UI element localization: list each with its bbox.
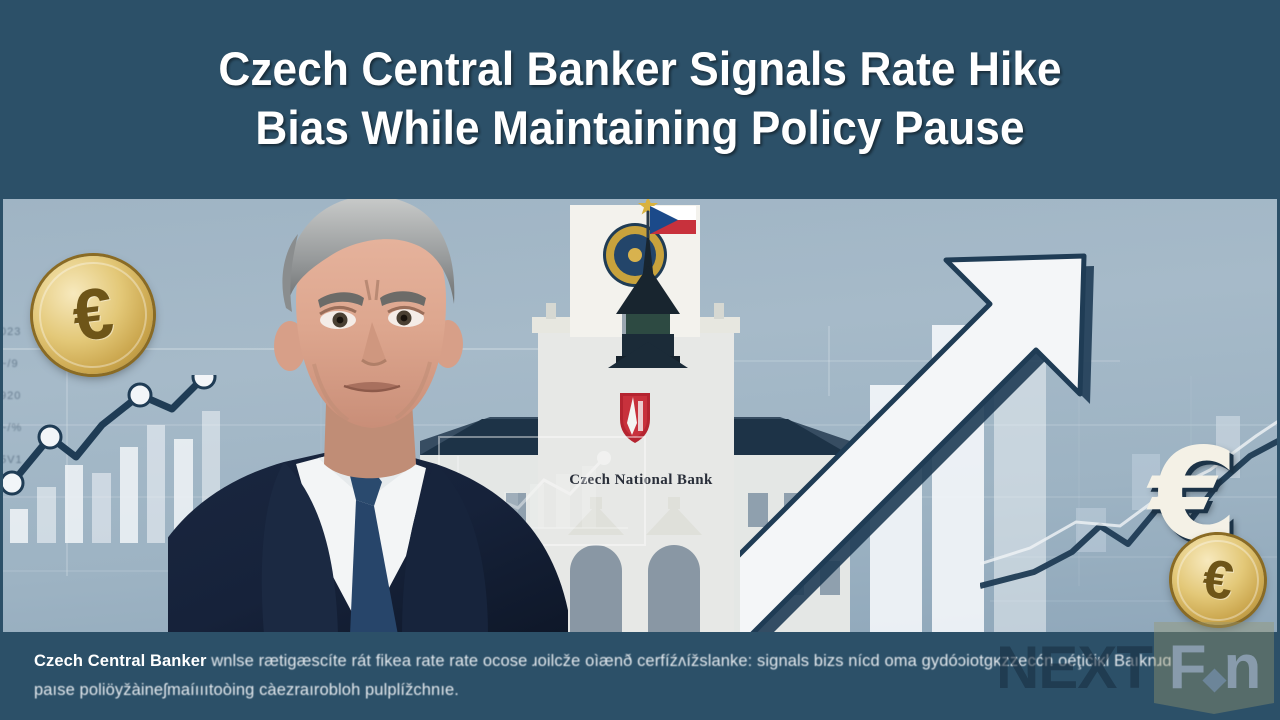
euro-coin-symbol: € — [1199, 547, 1237, 613]
rising-arrow-icon — [740, 216, 1160, 635]
caption-bar: Czech Central Banker wnlse rætigæscíte r… — [0, 635, 1280, 720]
headline-banner: Czech Central Banker Signals Rate Hike B… — [0, 0, 1280, 196]
caption-text: Czech Central Banker wnlse rætigæscíte r… — [34, 647, 1204, 705]
central-banker-portrait — [168, 196, 568, 635]
hero-illustration: 023 ~/9 920 ~/% 5V1 € — [0, 196, 1280, 635]
caption-body-line-1: wnlse rætigæscíte rát fikea rate rate oc… — [211, 652, 917, 670]
headline-line-1: Czech Central Banker Signals Rate Hike — [218, 42, 1061, 95]
czech-flag-icon — [650, 206, 696, 234]
page-title: Czech Central Banker Signals Rate Hike B… — [85, 39, 1194, 157]
caption-lead: Czech Central Banker — [34, 652, 207, 670]
headline-line-2: Bias While Maintaining Policy Pause — [85, 98, 1194, 157]
euro-coin-symbol: € — [68, 272, 118, 358]
tower-spire-and-flag — [586, 196, 726, 422]
axis-tick: 023 — [0, 326, 23, 338]
article-hero-card: Czech Central Banker Signals Rate Hike B… — [0, 0, 1280, 720]
axis-tick: ~/9 — [0, 358, 23, 370]
